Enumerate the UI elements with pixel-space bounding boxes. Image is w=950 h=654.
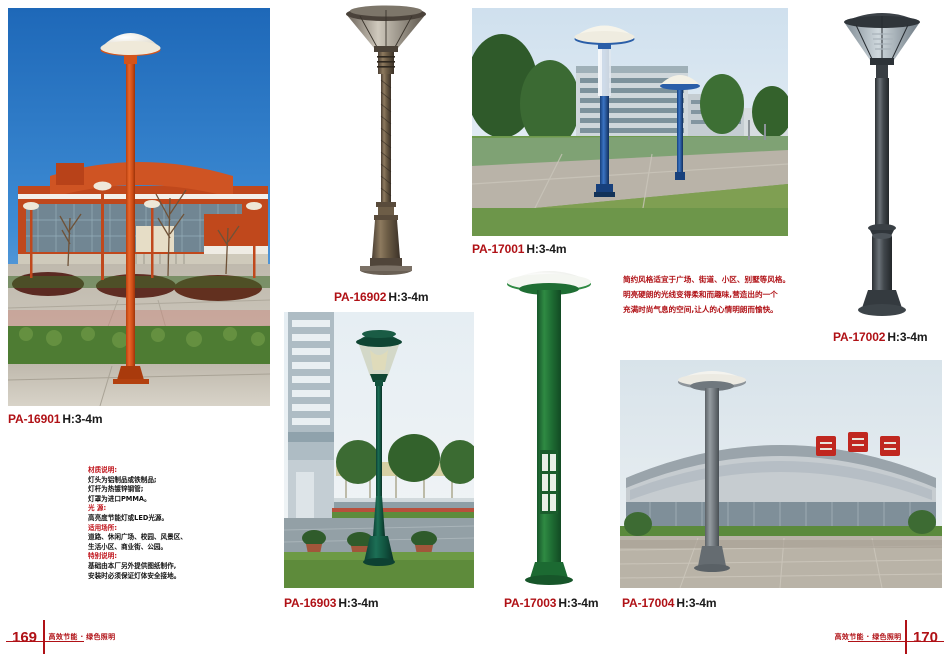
- promo-line-2: 明亮硬朗的光线变得柔和而趣味,营造出的一个: [623, 287, 833, 302]
- product-code: PA-17004: [622, 596, 674, 610]
- spec-material-line-1: 灯头为铝制品或铁制品;: [88, 476, 187, 486]
- spec-material-line-2: 灯杆为热镀锌钢管;: [88, 485, 187, 495]
- product-photo-pa17001: [472, 8, 788, 236]
- footer-divider-left: [43, 620, 45, 654]
- product-code: PA-16903: [284, 596, 336, 610]
- product-dimension: H:3-4m: [674, 596, 716, 610]
- caption-pa17002: PA-17002H:3-4m: [833, 330, 927, 344]
- footer-divider-right: [905, 620, 907, 654]
- promo-text: 简约风格适宜于广场、街道、小区、别墅等风格。 明亮硬朗的光线变得柔和而趣味,营造…: [623, 272, 833, 317]
- spec-material-heading: 材质说明:: [88, 466, 187, 476]
- spec-special-heading: 特别说明:: [88, 552, 187, 562]
- spec-source-line-1: 高亮度节能灯或LED光源。: [88, 514, 187, 524]
- product-code: PA-17001: [472, 242, 524, 256]
- product-dimension: H:3-4m: [556, 596, 598, 610]
- caption-pa16901: PA-16901H:3-4m: [8, 412, 102, 426]
- page-number-right: 170: [907, 629, 944, 646]
- product-image-pa17003: [490, 262, 608, 588]
- spec-special-line-2: 安装时必须保证灯体安全接地。: [88, 572, 187, 582]
- catalog-page: PA-16901H:3-4m: [0, 0, 950, 654]
- spec-block: 材质说明: 灯头为铝制品或铁制品; 灯杆为热镀锌钢管; 灯罩为进口PMMA。 光…: [88, 466, 187, 581]
- footer-slogan-left: 高效节能 · 绿色照明: [45, 632, 120, 642]
- promo-line-3: 充满时尚气息的空间,让人的心情明朗而愉快。: [623, 302, 833, 317]
- footer-left: 169 高效节能 · 绿色照明: [6, 626, 119, 648]
- product-photo-pa16903: [284, 312, 474, 588]
- spec-usage-heading: 适用场所:: [88, 524, 187, 534]
- product-dimension: H:3-4m: [524, 242, 566, 256]
- promo-line-1: 简约风格适宜于广场、街道、小区、别墅等风格。: [623, 272, 833, 287]
- product-photo-pa16901: [8, 8, 270, 406]
- product-code: PA-16902: [334, 290, 386, 304]
- product-code: PA-17003: [504, 596, 556, 610]
- product-image-pa16902: [330, 2, 442, 282]
- footer-right: 高效节能 · 绿色照明 170: [831, 626, 944, 648]
- product-image-pa17002: [820, 0, 944, 320]
- product-dimension: H:3-4m: [885, 330, 927, 344]
- product-photo-pa17004: [620, 360, 942, 588]
- spec-usage-line-2: 生活小区、商业街、公园。: [88, 543, 187, 553]
- product-dimension: H:3-4m: [386, 290, 428, 304]
- caption-pa16903: PA-16903H:3-4m: [284, 596, 378, 610]
- product-code: PA-16901: [8, 412, 60, 426]
- caption-pa16902: PA-16902H:3-4m: [334, 290, 428, 304]
- spec-material-line-3: 灯罩为进口PMMA。: [88, 495, 187, 505]
- product-dimension: H:3-4m: [60, 412, 102, 426]
- spec-source-heading: 光 源:: [88, 504, 187, 514]
- spec-usage-line-1: 道路、休闲广场、校园、风景区、: [88, 533, 187, 543]
- caption-pa17003: PA-17003H:3-4m: [504, 596, 598, 610]
- caption-pa17004: PA-17004H:3-4m: [622, 596, 716, 610]
- spec-special-line-1: 基础由本厂另外提供图纸制作,: [88, 562, 187, 572]
- product-code: PA-17002: [833, 330, 885, 344]
- product-dimension: H:3-4m: [336, 596, 378, 610]
- footer-slogan-right: 高效节能 · 绿色照明: [831, 632, 906, 642]
- page-number-left: 169: [6, 629, 43, 646]
- caption-pa17001: PA-17001H:3-4m: [472, 242, 566, 256]
